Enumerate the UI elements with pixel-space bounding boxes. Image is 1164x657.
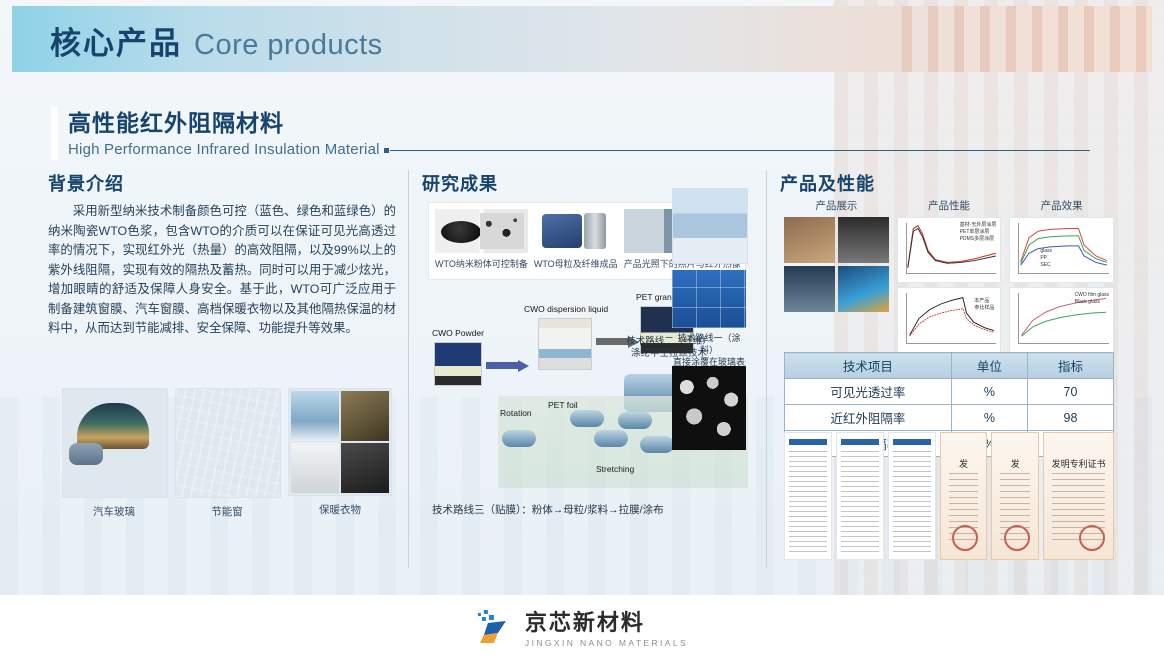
logo-mark-icon bbox=[476, 609, 516, 645]
product-effect-block: 产品效果 glass PP SEC bbox=[1009, 198, 1114, 353]
left-paragraph: 采用新型纳米技术制备颜色可控（蓝色、绿色和蓝绿色）的纳米陶瓷WTO色浆，包含WT… bbox=[48, 202, 396, 339]
chart-curves bbox=[1018, 223, 1110, 269]
cell-value: 70 bbox=[1027, 379, 1113, 405]
flow-label-cwo-powder: CWO Powder bbox=[432, 328, 484, 338]
chart-x-axis bbox=[906, 343, 997, 344]
cell-value: 98 bbox=[1027, 405, 1113, 431]
ctic-test-report bbox=[784, 432, 832, 560]
patent-title: 发明专利证书 bbox=[1044, 457, 1113, 470]
glass-coating-photo bbox=[672, 270, 746, 328]
photo-card: 汽车玻璃 bbox=[62, 388, 166, 519]
left-heading: 背景介绍 bbox=[48, 170, 396, 196]
cell-unit: % bbox=[951, 379, 1027, 405]
legend-item-2: 参比样品 bbox=[974, 305, 994, 311]
table-col-unit: 单位 bbox=[951, 353, 1027, 379]
flow-label-rotation: Rotation bbox=[500, 408, 532, 418]
route-one-block: 技术路线一（涂料） 直接涂覆在玻璃表面 bbox=[672, 270, 746, 380]
chart-legend: 本产品 参比样品 bbox=[974, 298, 994, 312]
legend-item-2: PP bbox=[1040, 255, 1047, 261]
product-performance-block: 产品性能 基材-无外层涂层 PET单层涂层 PDMS多层涂层 bbox=[897, 198, 1002, 353]
patent-title: 发 bbox=[941, 457, 987, 470]
brand-name-cn: 京芯新材料 bbox=[525, 605, 688, 637]
legend-item-1: glass bbox=[1040, 248, 1052, 254]
legend-item-1: 基材-无外层涂层 bbox=[960, 222, 997, 228]
chart-legend: CWO film glass Black glass bbox=[1075, 292, 1109, 306]
flow-label-stretching: Stretching bbox=[596, 464, 634, 474]
roller bbox=[594, 430, 628, 447]
right-heading: 产品及性能 bbox=[780, 170, 1116, 196]
result-item: WTO母粒及纤维成品 bbox=[534, 209, 618, 273]
column-product: 产品及性能 产品展示 产品性能 bbox=[780, 170, 1116, 202]
official-seal-icon bbox=[1004, 525, 1030, 551]
slide-header-band: 核心产品Core products bbox=[12, 6, 1152, 72]
rule-dot bbox=[384, 148, 389, 153]
table-col-item: 技术项目 bbox=[785, 353, 952, 379]
patent-title: 发 bbox=[992, 457, 1038, 470]
flow-label-dispersion: CWO dispersion liquid bbox=[524, 304, 608, 314]
patent-certificate-1: 发 bbox=[940, 432, 988, 560]
left-photo-strip: 汽车玻璃 节能窗 保暖衣物 bbox=[62, 388, 392, 519]
header-pillar-graphic bbox=[902, 6, 1152, 72]
cell-unit: % bbox=[951, 405, 1027, 431]
product-subsections: 产品展示 产品性能 bbox=[784, 198, 1114, 353]
column-background: 背景介绍 采用新型纳米技术制备颜色可控（蓝色、绿色和蓝绿色）的纳米陶瓷WTO色浆… bbox=[48, 170, 396, 339]
legend-item-2: PET单层涂层 bbox=[960, 229, 990, 235]
chart-x-axis bbox=[906, 273, 997, 274]
table-col-value: 指标 bbox=[1027, 353, 1113, 379]
table-header-row: 技术项目 单位 指标 bbox=[785, 353, 1114, 379]
header-title-en: Core products bbox=[194, 29, 383, 61]
header-title: 核心产品Core products bbox=[50, 18, 383, 63]
official-seal-icon bbox=[1079, 525, 1105, 551]
effect-chart-top: glass PP SEC bbox=[1009, 217, 1114, 283]
inspection-report bbox=[888, 432, 936, 560]
company-logo: 京芯新材料 JINGXIN NANO MATERIALS bbox=[476, 605, 688, 648]
nano-powder-photo bbox=[435, 209, 528, 253]
chart-legend: 基材-无外层涂层 PET单层涂层 PDMS多层涂层 bbox=[960, 222, 997, 243]
temperature-curve-chart: 本产品 参比样品 bbox=[897, 287, 1002, 353]
subhead-effect: 产品效果 bbox=[1009, 198, 1114, 213]
route-two-line2: 涤纶中空拉丝技术 bbox=[631, 348, 707, 359]
result-item: WTO纳米粉体可控制备 bbox=[435, 209, 528, 273]
glass-curtain-wall-photo bbox=[175, 388, 281, 498]
cwo-dispersion-photo bbox=[538, 318, 592, 370]
column-divider-2 bbox=[766, 170, 767, 568]
roller bbox=[502, 430, 536, 447]
slide-footer: 京芯新材料 JINGXIN NANO MATERIALS bbox=[0, 595, 1164, 657]
column-research: 研究成果 WTO纳米粉体可控制备 WTO母粒及纤维成品 产品光照下的照片与红外热… bbox=[422, 170, 752, 202]
product-showcase-photos bbox=[784, 217, 889, 312]
official-seal-icon bbox=[952, 525, 978, 551]
logo-svg bbox=[476, 609, 516, 645]
chart-x-axis bbox=[1018, 343, 1109, 344]
section-title-cn: 高性能红外阻隔材料 bbox=[68, 104, 380, 138]
thermal-apparel-photo bbox=[288, 388, 392, 496]
product-photo-3 bbox=[784, 266, 835, 312]
table-head: 技术项目 单位 指标 bbox=[785, 353, 1114, 379]
effect-chart-bottom: CWO film glass Black glass bbox=[1009, 287, 1114, 353]
section-title-rule bbox=[390, 150, 1090, 151]
legend-item-3: PDMS多层涂层 bbox=[960, 236, 994, 242]
result-caption: WTO纳米粉体可控制备 bbox=[435, 257, 528, 270]
legend-item-3: SEC bbox=[1040, 262, 1050, 268]
flow-label-pet-foil: PET foil bbox=[548, 400, 578, 410]
product-photo-4 bbox=[838, 266, 889, 312]
legend-item-1: CWO film glass bbox=[1075, 292, 1109, 298]
route-two-block: 技术路线二（纤维） 涤纶中空拉丝技术 bbox=[672, 366, 746, 450]
certificates-row: 发 发 发明专利证书 bbox=[784, 432, 1114, 560]
section-title-en: High Performance Infrared Insulation Mat… bbox=[68, 141, 380, 158]
photo-card: 保暖衣物 bbox=[288, 388, 392, 519]
photo-caption: 节能窗 bbox=[175, 504, 279, 519]
slide-root: 核心产品Core products 高性能红外阻隔材料 High Perform… bbox=[0, 0, 1164, 657]
brand-name-en: JINGXIN NANO MATERIALS bbox=[525, 638, 688, 648]
photo-caption: 保暖衣物 bbox=[288, 502, 392, 517]
roller bbox=[640, 436, 674, 453]
transmittance-chart: 基材-无外层涂层 PET单层涂层 PDMS多层涂层 bbox=[897, 217, 1002, 283]
legend-item-2: Black glass bbox=[1075, 299, 1100, 305]
masterbatch-fiber-photo bbox=[534, 209, 618, 253]
route-two-line1: 技术路线二（纤维） bbox=[626, 336, 712, 347]
patent-certificate-2: 发 bbox=[991, 432, 1039, 560]
legend-item-1: 本产品 bbox=[974, 298, 989, 304]
flow-caption-route-three: 技术路线三（贴膜）：粉体→母粒/浆料→拉膜/涂布 bbox=[432, 502, 664, 517]
gtt-barcode-report bbox=[836, 432, 884, 560]
patent-certificate-3: 发明专利证书 bbox=[1043, 432, 1114, 560]
hollow-fiber-sem-photo bbox=[672, 366, 746, 450]
column-divider-1 bbox=[408, 170, 409, 568]
logo-text: 京芯新材料 JINGXIN NANO MATERIALS bbox=[525, 605, 688, 648]
car-window-photo bbox=[62, 388, 168, 498]
subhead-showcase: 产品展示 bbox=[784, 198, 889, 213]
subhead-performance: 产品性能 bbox=[897, 198, 1002, 213]
table-row: 近红外阻隔率 % 98 bbox=[785, 405, 1114, 431]
cell-item: 可见光透过率 bbox=[785, 379, 952, 405]
flow-arrow-1 bbox=[486, 362, 520, 369]
chart-legend: glass PP SEC bbox=[1040, 248, 1052, 269]
section-title-bar bbox=[52, 107, 57, 159]
roller bbox=[570, 410, 604, 427]
route-two-caption: 技术路线二（纤维） 涤纶中空拉丝技术 bbox=[594, 336, 744, 360]
header-title-cn: 核心产品 bbox=[50, 26, 182, 61]
photo-card: 节能窗 bbox=[175, 388, 279, 519]
content-columns: 背景介绍 采用新型纳米技术制备颜色可控（蓝色、绿色和蓝绿色）的纳米陶瓷WTO色浆… bbox=[48, 170, 1116, 570]
chart-x-axis bbox=[1018, 273, 1109, 274]
product-photo-1 bbox=[784, 217, 835, 263]
table-row: 可见光透过率 % 70 bbox=[785, 379, 1114, 405]
product-showcase-block: 产品展示 bbox=[784, 198, 889, 353]
product-photo-2 bbox=[838, 217, 889, 263]
section-title: 高性能红外阻隔材料 High Performance Infrared Insu… bbox=[52, 104, 380, 158]
roller bbox=[618, 412, 652, 429]
cwo-powder-photo bbox=[434, 342, 482, 386]
cell-item: 近红外阻隔率 bbox=[785, 405, 952, 431]
coating-application-photo bbox=[672, 188, 748, 264]
result-caption: WTO母粒及纤维成品 bbox=[534, 257, 618, 270]
photo-caption: 汽车玻璃 bbox=[62, 504, 166, 519]
